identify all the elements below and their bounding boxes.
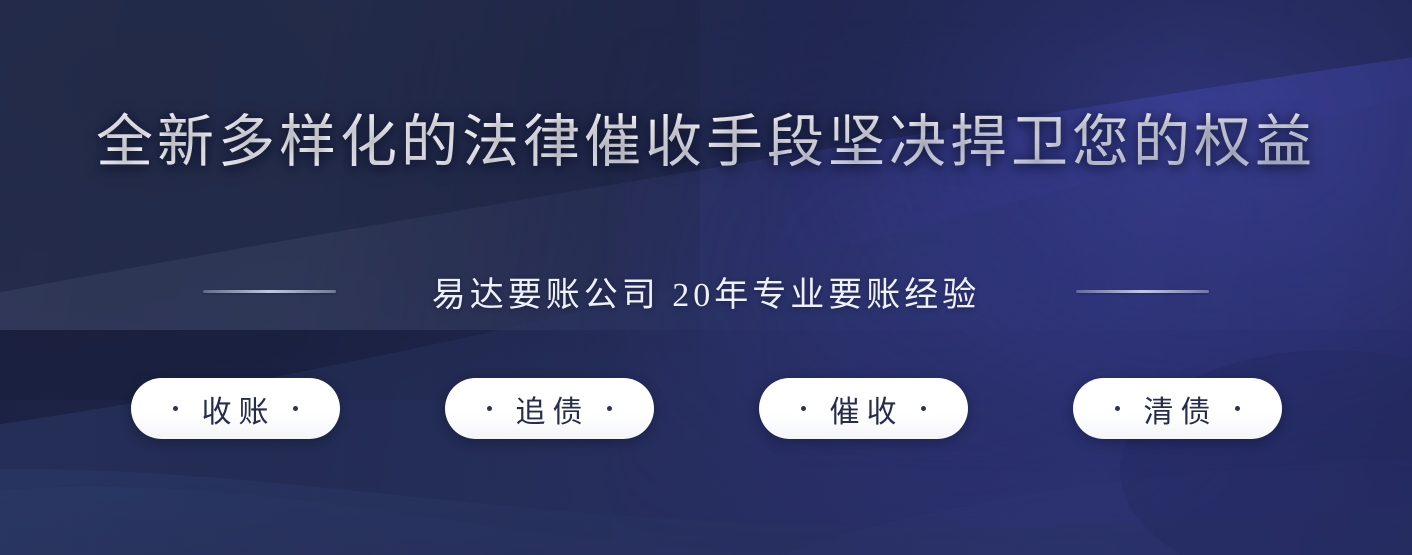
dot-icon <box>1235 406 1240 411</box>
divider-line-right <box>1076 290 1209 293</box>
dot-icon <box>173 406 178 411</box>
service-pill-label: 催收 <box>823 387 904 431</box>
service-pill-qingzhai[interactable]: 清债 <box>1073 378 1282 439</box>
service-pill-shouzhang[interactable]: 收账 <box>131 378 340 439</box>
dot-icon <box>1115 406 1120 411</box>
service-pill-label: 清债 <box>1137 387 1218 431</box>
dot-icon <box>487 406 492 411</box>
banner-subtitle: 易达要账公司 20年专业要账经验 <box>432 267 981 316</box>
banner-headline: 全新多样化的法律催收手段坚决捍卫您的权益 <box>0 112 1412 174</box>
dot-icon <box>293 406 298 411</box>
dot-icon <box>607 406 612 411</box>
service-pill-label: 追债 <box>509 387 590 431</box>
divider-line-left <box>203 290 336 293</box>
banner-content: 全新多样化的法律催收手段坚决捍卫您的权益 易达要账公司 20年专业要账经验 收账… <box>0 0 1412 555</box>
service-pill-zhuizhai[interactable]: 追债 <box>445 378 654 439</box>
dot-icon <box>921 406 926 411</box>
service-pill-cuishou[interactable]: 催收 <box>759 378 968 439</box>
service-pill-list: 收账 追债 催收 清债 <box>0 378 1412 439</box>
dot-icon <box>801 406 806 411</box>
promo-banner: 全新多样化的法律催收手段坚决捍卫您的权益 易达要账公司 20年专业要账经验 收账… <box>0 0 1412 555</box>
service-pill-label: 收账 <box>195 387 276 431</box>
subtitle-row: 易达要账公司 20年专业要账经验 <box>0 267 1412 316</box>
